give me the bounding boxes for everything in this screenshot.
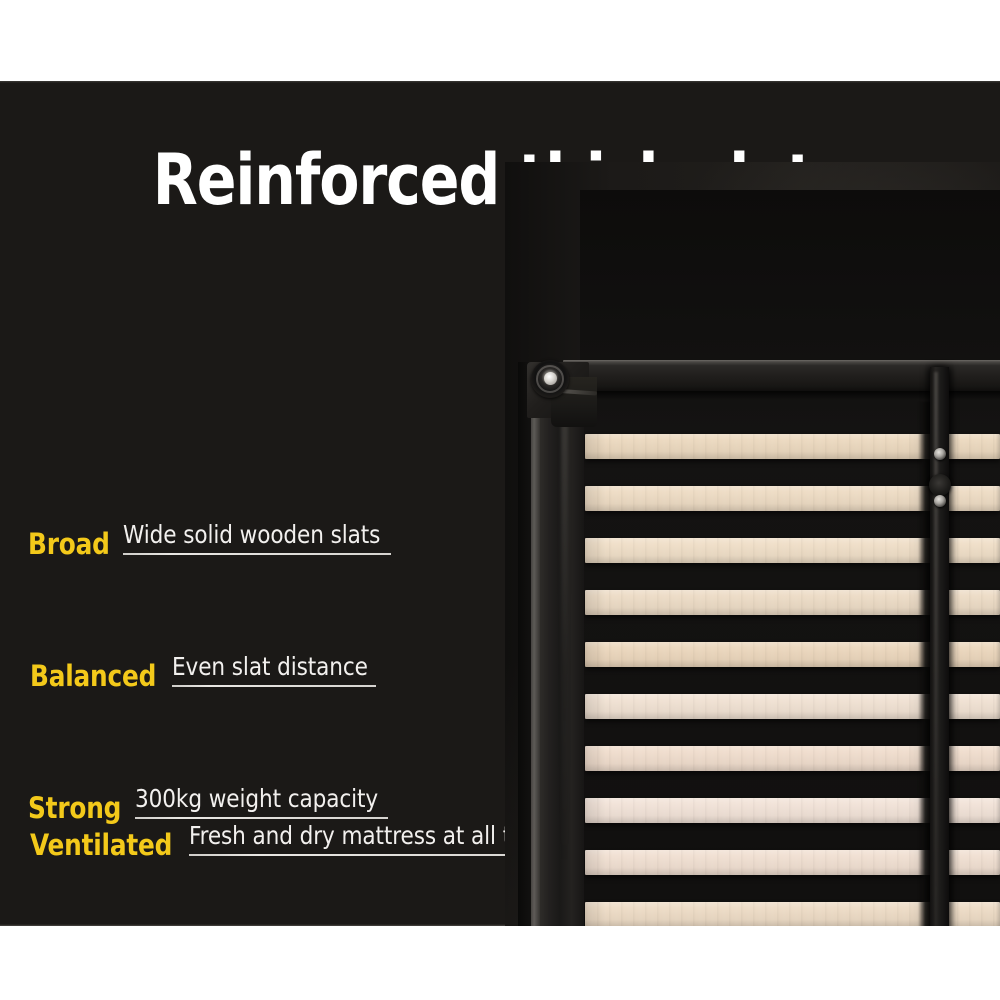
feature-underline-broad [123,553,391,555]
slat-grain [585,798,937,823]
wooden-slat [585,434,937,459]
dark-content-panel: Reinforced thick slats Broad Wide solid … [0,81,1000,926]
bolt-core-highlight [544,372,557,385]
wooden-slat [585,694,937,719]
product-feature-graphic: Reinforced thick slats Broad Wide solid … [0,0,1000,1000]
product-photo-bed-frame-slats [505,162,1000,926]
slat-grain [945,434,1000,459]
feature-value-wrap-broad: Wide solid wooden slats [123,522,391,559]
slat-grain [585,694,937,719]
wooden-slat [585,590,937,615]
left-rail-highlight-edge [531,364,540,926]
slat-grain [945,746,1000,771]
feature-value-broad: Wide solid wooden slats [123,522,380,548]
feature-value-wrap-balanced: Even slat distance [172,654,376,691]
slat-grain [585,902,937,926]
wooden-slat [945,798,1000,823]
panel-top-divider [0,81,1000,83]
left-rail-outer-gap [518,362,531,926]
slat-grain [945,902,1000,926]
center-rail-washer [929,474,951,496]
feature-key-strong: Strong [28,794,121,823]
slat-grain [945,642,1000,667]
slat-grain [945,590,1000,615]
slat-grain [945,850,1000,875]
wooden-slat [945,538,1000,563]
feature-underline-balanced [172,685,376,687]
slat-grain [945,486,1000,511]
slat-grain [585,486,937,511]
feature-value-balanced: Even slat distance [172,654,368,680]
slat-grain [585,642,937,667]
feature-row-strong: Strong 300kg weight capacity [28,691,388,823]
slat-grain [585,746,937,771]
wooden-slat [945,694,1000,719]
feature-underline-strong [135,817,388,819]
slat-grain [945,694,1000,719]
slat-grain [945,798,1000,823]
center-rail-screw-lower [934,495,946,507]
feature-value-wrap-strong: 300kg weight capacity [135,786,388,823]
feature-row-balanced: Balanced Even slat distance [30,559,376,691]
wooden-slat [945,746,1000,771]
wooden-slat [585,850,937,875]
wooden-slat [585,538,937,563]
feature-key-ventilated: Ventilated [30,831,172,860]
wooden-slat [585,486,937,511]
slat-grain [945,538,1000,563]
wooden-slat [945,642,1000,667]
slat-grain [585,434,937,459]
feature-row-broad: Broad Wide solid wooden slats [28,427,391,559]
wooden-slat [585,902,937,926]
slat-grain [585,850,937,875]
wooden-slat [585,746,937,771]
feature-value-strong: 300kg weight capacity [135,786,378,812]
wooden-slat [945,590,1000,615]
slat-grain [585,590,937,615]
feature-row-ventilated: Ventilated Fresh and dry mattress at all… [30,823,578,860]
wooden-slat [945,434,1000,459]
slat-grain [585,538,937,563]
center-rail-screw-upper [934,448,946,460]
wooden-slat [945,902,1000,926]
wooden-slat [945,850,1000,875]
left-rail-sheen [561,367,568,867]
wooden-slat [945,486,1000,511]
feature-key-balanced: Balanced [30,662,156,691]
wooden-slat [585,642,937,667]
feature-key-broad: Broad [28,530,110,559]
wooden-slat [585,798,937,823]
